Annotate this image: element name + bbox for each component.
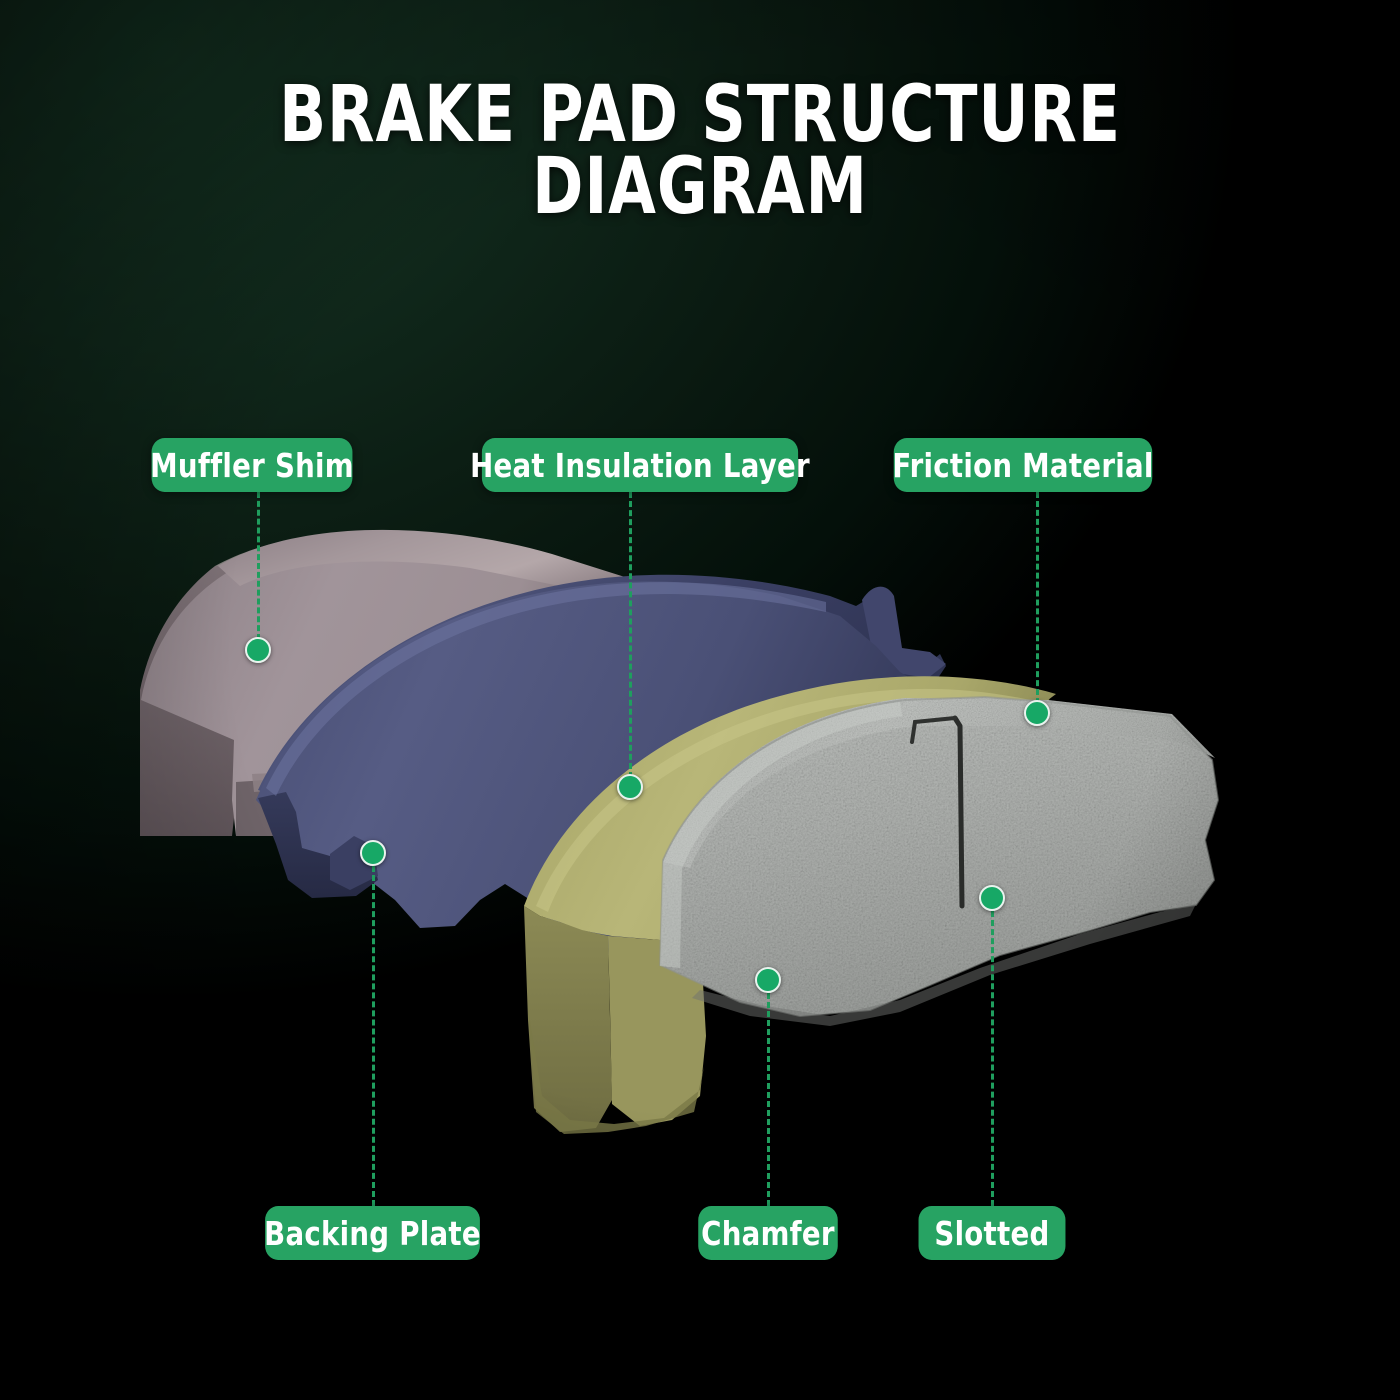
- callout-muffler-shim[interactable]: Muffler Shim: [152, 438, 353, 492]
- callout-heat-insulation-layer[interactable]: Heat Insulation Layer: [482, 438, 798, 492]
- callout-label-backing-plate: Backing Plate: [264, 1214, 481, 1253]
- callout-friction-material[interactable]: Friction Material: [894, 438, 1153, 492]
- callout-label-muffler-shim: Muffler Shim: [150, 446, 354, 485]
- callout-label-slotted: Slotted: [934, 1214, 1049, 1253]
- diagram-canvas: BRAKE PAD STRUCTURE DIAGRAM Muffler Shim…: [0, 0, 1400, 1400]
- leader-line-heat-insulation-layer: [629, 492, 632, 778]
- leader-line-friction-material: [1036, 492, 1039, 704]
- page-title: BRAKE PAD STRUCTURE DIAGRAM: [84, 80, 1316, 224]
- callout-label-friction-material: Friction Material: [892, 446, 1153, 485]
- callout-backing-plate[interactable]: Backing Plate: [265, 1206, 480, 1260]
- callout-slotted[interactable]: Slotted: [919, 1206, 1066, 1260]
- leader-line-chamfer: [767, 993, 770, 1206]
- leader-line-slotted: [991, 911, 994, 1206]
- anchor-dot-heat-insulation-layer[interactable]: [617, 774, 643, 800]
- anchor-dot-muffler-shim[interactable]: [245, 637, 271, 663]
- anchor-dot-chamfer[interactable]: [755, 967, 781, 993]
- leader-line-muffler-shim: [257, 492, 260, 640]
- anchor-dot-friction-material[interactable]: [1024, 700, 1050, 726]
- anchor-dot-slotted[interactable]: [979, 885, 1005, 911]
- leader-line-backing-plate: [372, 866, 375, 1206]
- anchor-dot-backing-plate[interactable]: [360, 840, 386, 866]
- callout-label-heat-insulation-layer: Heat Insulation Layer: [470, 446, 810, 485]
- callout-chamfer[interactable]: Chamfer: [698, 1206, 838, 1260]
- callout-label-chamfer: Chamfer: [701, 1214, 835, 1253]
